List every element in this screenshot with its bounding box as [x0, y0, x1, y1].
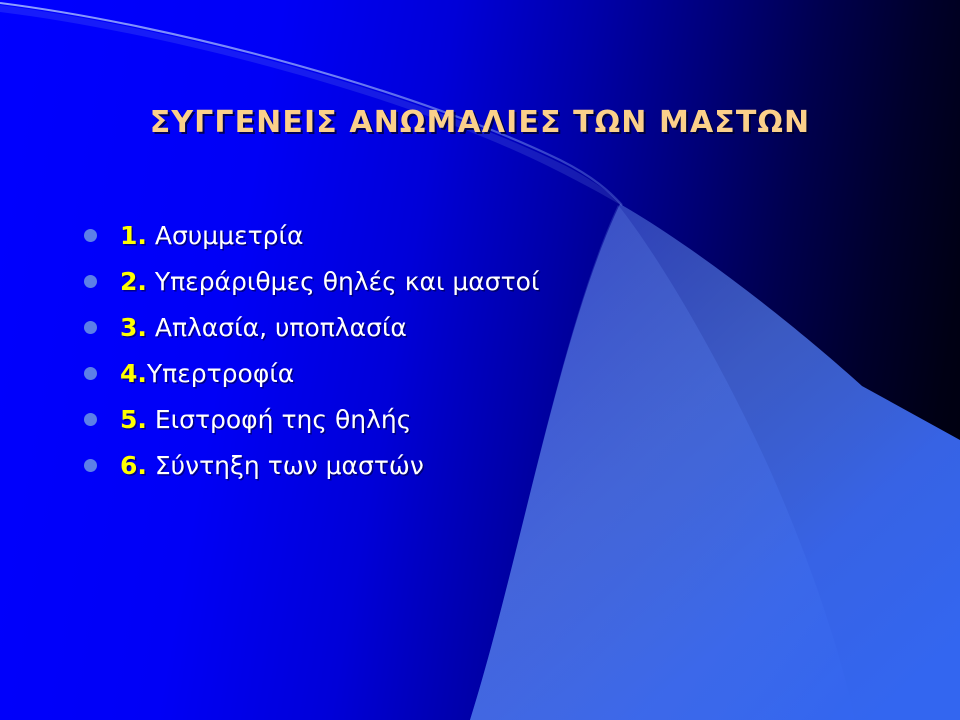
list-item-number: 3. [120, 313, 147, 342]
list-item-label: Υπεράριθμες θηλές και μαστοί [147, 267, 540, 296]
bullet-dot-icon [84, 367, 97, 380]
list-item-text: 3. Απλασία, υποπλασία [120, 313, 407, 342]
bullet-dot-icon [84, 321, 97, 334]
list-item: 2. Υπεράριθμες θηλές και μαστοί [84, 258, 844, 304]
list-item-label: Ασυμμετρία [147, 221, 304, 250]
list-item: 1. Ασυμμετρία [84, 212, 844, 258]
list-item-text: 5. Ειστροφή της θηλής [120, 405, 411, 434]
bullet-list: 1. Ασυμμετρία 2. Υπεράριθμες θηλές και μ… [84, 212, 844, 488]
list-item-number: 6. [120, 451, 147, 480]
list-item: 5. Ειστροφή της θηλής [84, 396, 844, 442]
list-item-text: 2. Υπεράριθμες θηλές και μαστοί [120, 267, 539, 296]
bullet-dot-icon [84, 459, 97, 472]
list-item-label: Ειστροφή της θηλής [147, 405, 412, 434]
list-item: 3. Απλασία, υποπλασία [84, 304, 844, 350]
list-item-label: Απλασία, υποπλασία [147, 313, 407, 342]
list-item-label: Σύντηξη των μαστών [147, 451, 424, 480]
list-item-text: 4.Υπερτροφία [120, 359, 294, 388]
list-item-text: 1. Ασυμμετρία [120, 221, 303, 250]
list-item-number: 5. [120, 405, 147, 434]
list-item-number: 1. [120, 221, 147, 250]
presentation-slide: ΣΥΓΓΕΝΕΙΣ ΑΝΩΜΑΛΙΕΣ ΤΩΝ ΜΑΣΤΩΝ 1. Ασυμμε… [0, 0, 960, 720]
slide-title: ΣΥΓΓΕΝΕΙΣ ΑΝΩΜΑΛΙΕΣ ΤΩΝ ΜΑΣΤΩΝ [0, 105, 960, 140]
list-item: 4.Υπερτροφία [84, 350, 844, 396]
list-item: 6. Σύντηξη των μαστών [84, 442, 844, 488]
decorative-arc-line [0, 3, 622, 205]
bullet-dot-icon [84, 413, 97, 426]
bullet-dot-icon [84, 229, 97, 242]
bullet-dot-icon [84, 275, 97, 288]
list-item-text: 6. Σύντηξη των μαστών [120, 451, 424, 480]
list-item-number: 2. [120, 267, 147, 296]
list-item-label: Υπερτροφία [147, 359, 294, 388]
list-item-number: 4. [120, 359, 147, 388]
